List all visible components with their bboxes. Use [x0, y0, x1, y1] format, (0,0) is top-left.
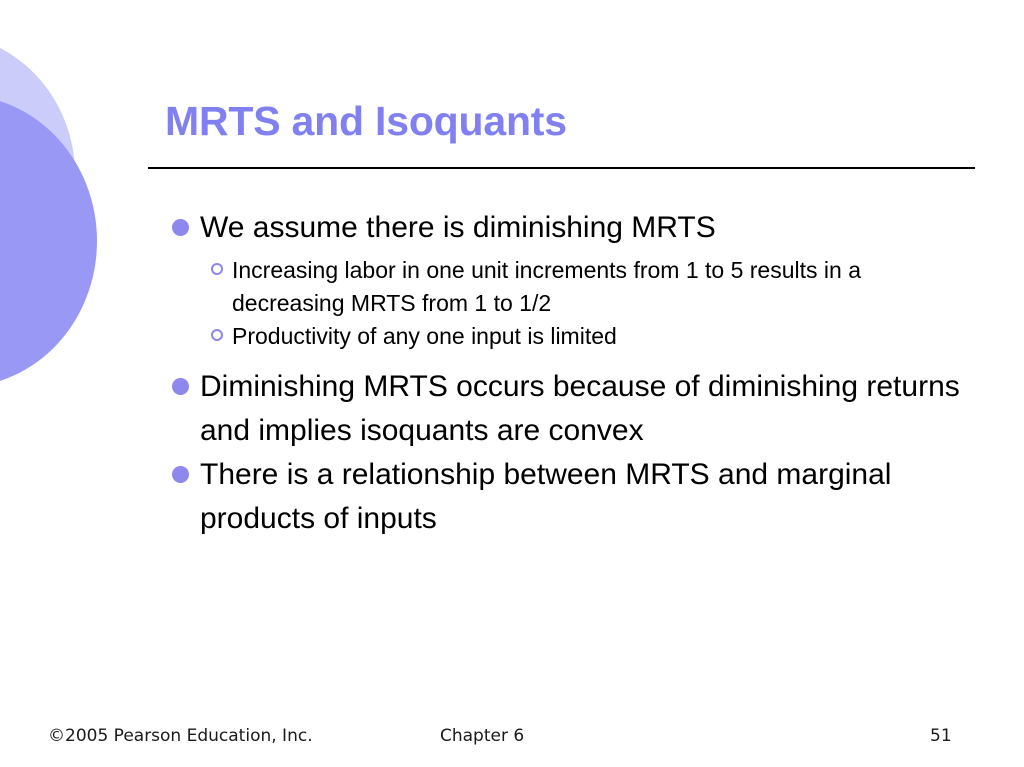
sub-bullet-text: Productivity of any one input is limited — [232, 323, 617, 349]
spacer — [0, 353, 1024, 365]
bullet-dot-icon — [172, 378, 189, 395]
bullet-item: We assume there is diminishing MRTS — [0, 206, 1024, 250]
sub-bullet-list: Increasing labor in one unit increments … — [0, 254, 1024, 353]
footer-page-number: 51 — [930, 726, 952, 746]
bullet-text: We assume there is diminishing MRTS — [200, 211, 716, 244]
title-divider — [148, 167, 975, 169]
footer-copyright: ©2005 Pearson Education, Inc. — [48, 726, 313, 746]
bullet-text: Diminishing MRTS occurs because of dimin… — [200, 370, 960, 447]
page-title: MRTS and Isoquants — [165, 97, 985, 145]
bullet-item: There is a relationship between MRTS and… — [0, 453, 1024, 541]
slide-footer: ©2005 Pearson Education, Inc. Chapter 6 … — [0, 726, 1024, 756]
slide: MRTS and Isoquants We assume there is di… — [0, 0, 1024, 767]
sub-bullet-item: Increasing labor in one unit increments … — [0, 254, 1024, 320]
sub-bullet-text: Increasing labor in one unit increments … — [232, 257, 861, 316]
bullet-circle-outline-icon — [211, 263, 223, 275]
sub-bullet-item: Productivity of any one input is limited — [0, 320, 1024, 353]
slide-body: We assume there is diminishing MRTS Incr… — [0, 206, 1024, 541]
bullet-dot-icon — [172, 219, 189, 236]
bullet-item: Diminishing MRTS occurs because of dimin… — [0, 365, 1024, 453]
bullet-dot-icon — [172, 466, 189, 483]
footer-chapter: Chapter 6 — [440, 726, 524, 746]
bullet-circle-outline-icon — [211, 329, 223, 341]
bullet-text: There is a relationship between MRTS and… — [200, 458, 891, 535]
